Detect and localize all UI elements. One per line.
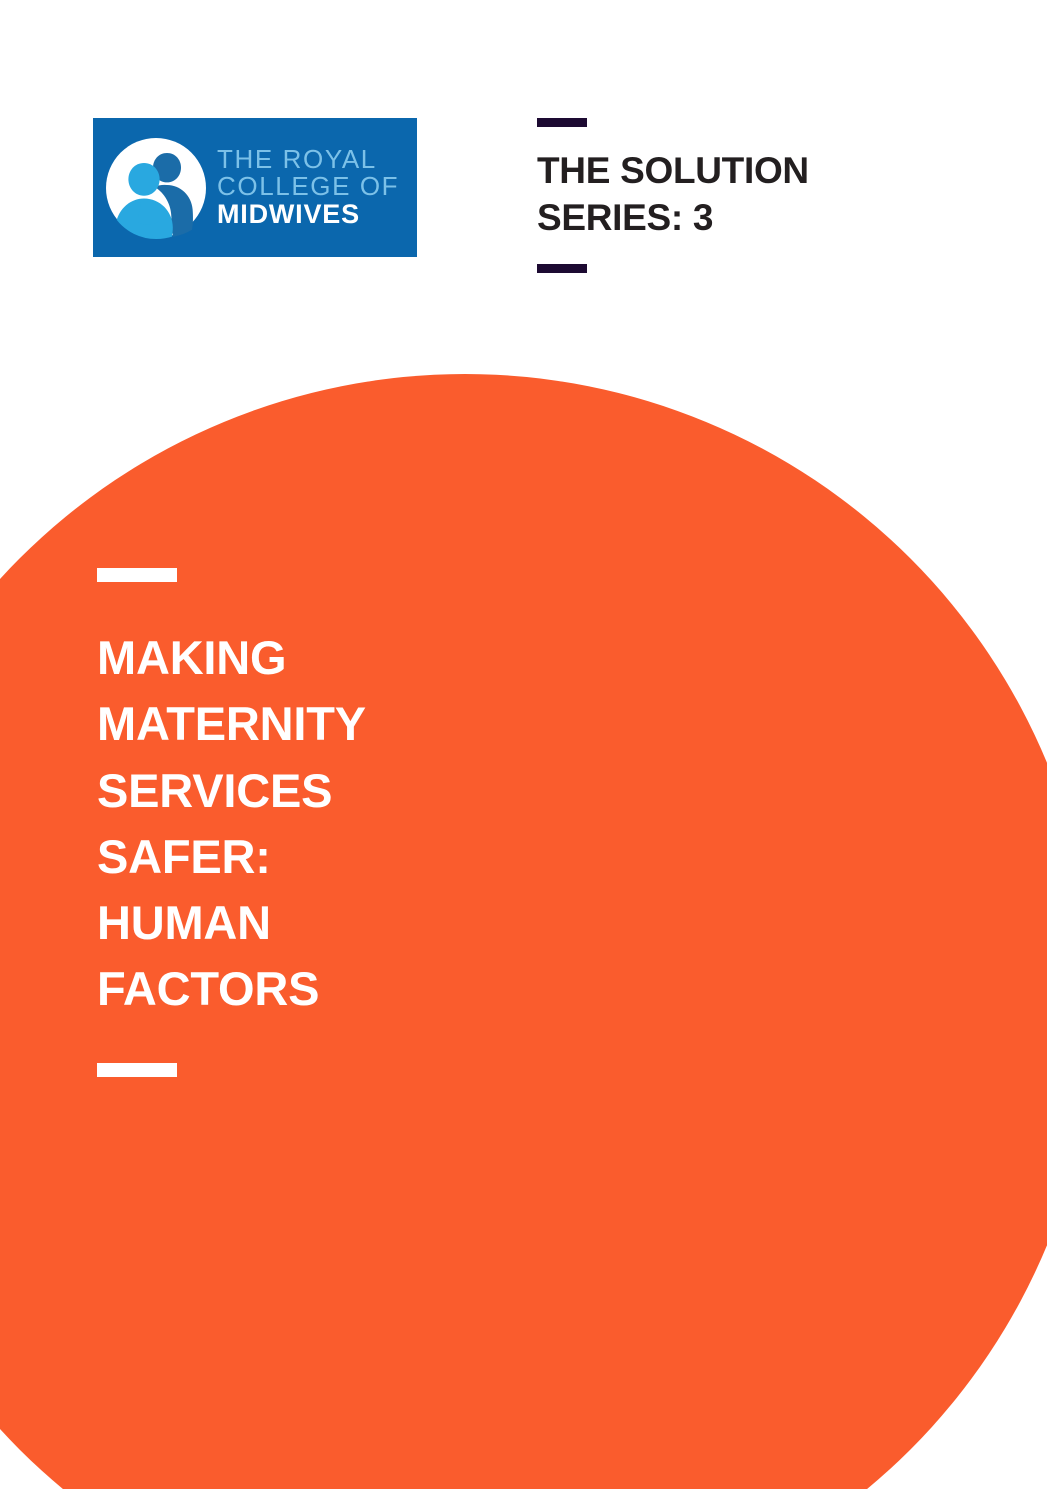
cover-title-line-3: SERVICES (97, 758, 497, 824)
logo-line-2: COLLEGE OF (217, 173, 399, 200)
rcm-logo-wordmark: THE ROYAL COLLEGE OF MIDWIVES (217, 146, 399, 228)
parent-and-baby-icon (103, 135, 209, 241)
series-title-line-1: THE SOLUTION (537, 148, 957, 195)
series-title-line-2: SERIES: 3 (537, 195, 957, 242)
series-heading-block: THE SOLUTION SERIES: 3 (537, 118, 957, 273)
series-title: THE SOLUTION SERIES: 3 (537, 148, 957, 242)
document-cover-page: THE ROYAL COLLEGE OF MIDWIVES THE SOLUTI… (0, 0, 1047, 1489)
cover-title-line-6: FACTORS (97, 956, 497, 1022)
series-rule-top (537, 118, 587, 127)
rcm-logo: THE ROYAL COLLEGE OF MIDWIVES (93, 118, 417, 257)
logo-line-3: MIDWIVES (217, 200, 399, 228)
logo-line-1: THE ROYAL (217, 146, 399, 173)
cover-title-line-4: SAFER: (97, 824, 497, 890)
cover-title-rule-top (97, 568, 177, 582)
cover-title-rule-bottom (97, 1063, 177, 1077)
page-title: MAKING MATERNITY SERVICES SAFER: HUMAN F… (97, 625, 497, 1023)
cover-title-line-5: HUMAN (97, 890, 497, 956)
cover-title-line-1: MAKING (97, 625, 497, 691)
cover-title-block: MAKING MATERNITY SERVICES SAFER: HUMAN F… (97, 568, 497, 1077)
series-rule-bottom (537, 264, 587, 273)
cover-title-line-2: MATERNITY (97, 691, 497, 757)
